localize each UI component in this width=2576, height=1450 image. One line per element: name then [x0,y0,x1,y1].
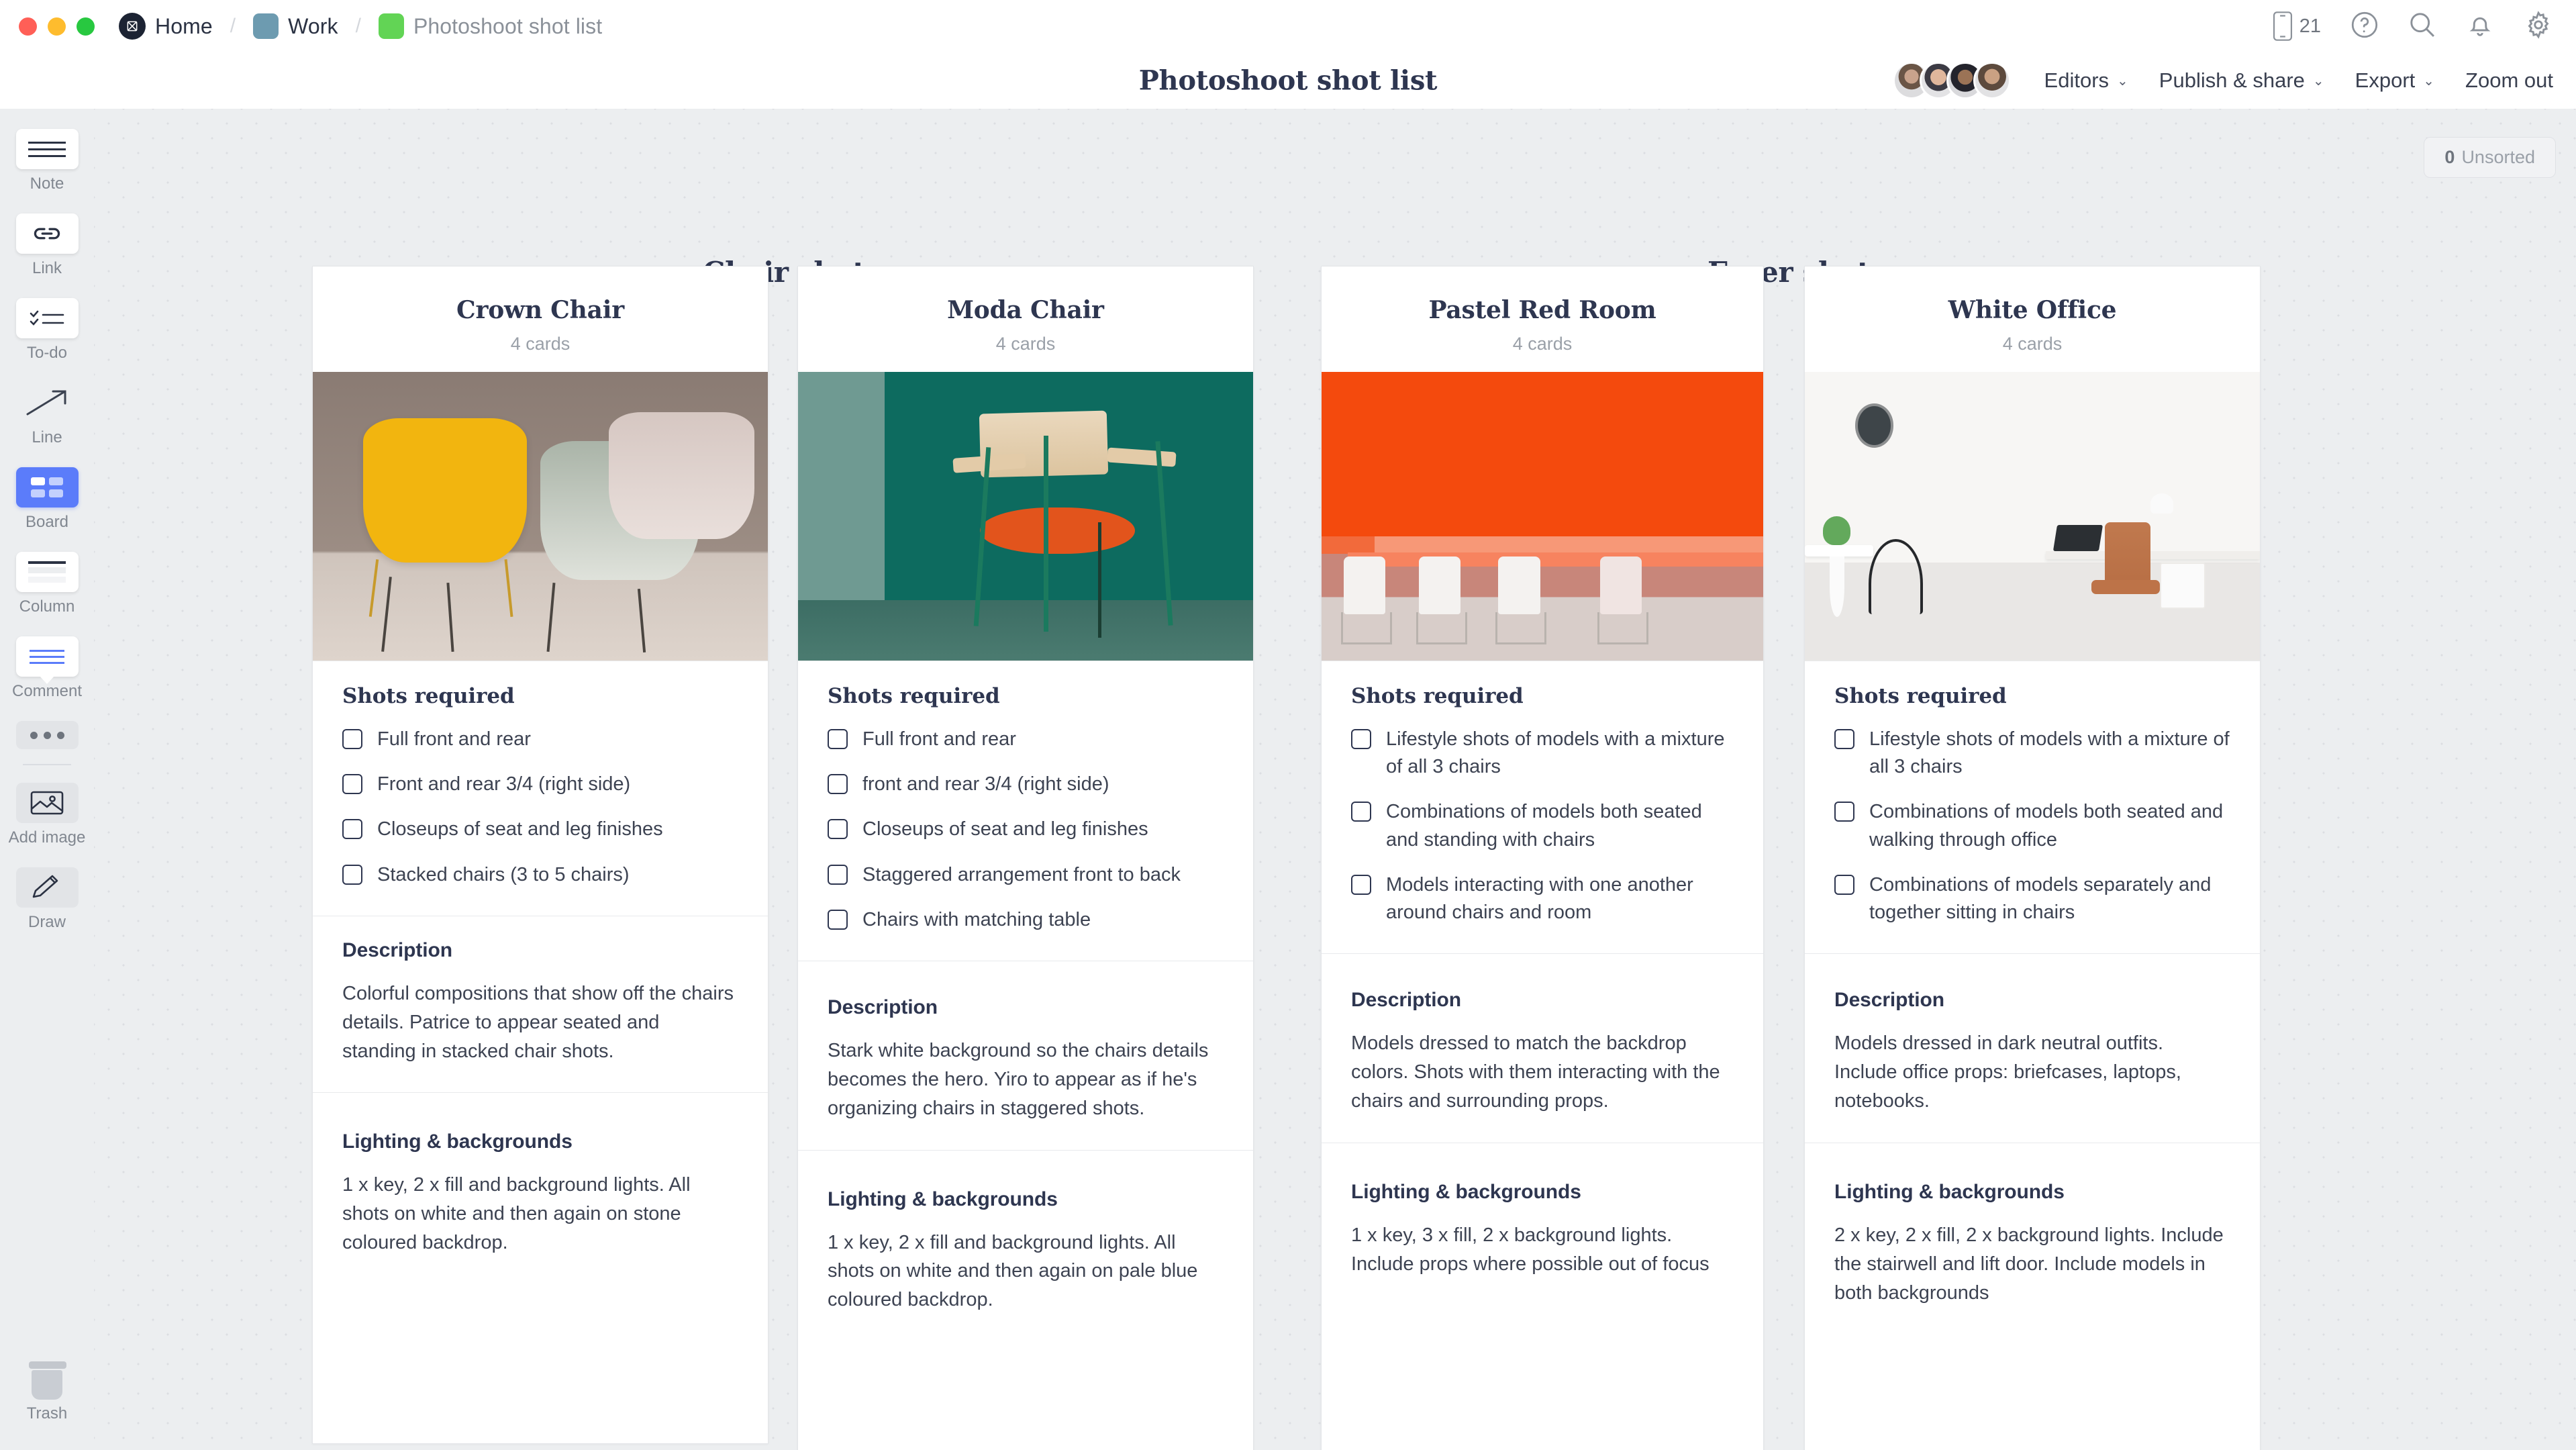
left-tool-sidebar: Note Link To-do Line [0,109,94,1450]
lighting-text: 1 x key, 3 x fill, 2 x background lights… [1351,1221,1734,1279]
checklist-label: Closeups of seat and leg finishes [862,816,1148,843]
sidebar-more-tools-button[interactable] [0,721,94,749]
sidebar-tool-line[interactable]: Line [0,383,94,447]
blue-swatch-icon [253,13,279,39]
checklist-label: Stacked chairs (3 to 5 chairs) [377,861,630,889]
app-toolbar: Photoshoot shot list Editors ⌄ Publish &… [0,52,2576,109]
card-shots-block: Shots required Full front and rear Front… [313,661,768,916]
checklist-item[interactable]: Combinations of models both seated and w… [1834,798,2230,853]
checklist-item[interactable]: Combinations of models separately and to… [1834,871,2230,926]
lighting-text: 1 x key, 2 x fill and background lights.… [828,1228,1224,1315]
sidebar-tool-add-image[interactable]: Add image [0,783,94,847]
chevron-down-icon: ⌄ [2423,72,2434,89]
checkbox-icon[interactable] [1834,729,1854,749]
checklist-label: front and rear 3/4 (right side) [862,771,1109,798]
card-shots-block: Shots required Full front and rear front… [798,661,1253,961]
mobile-icon [2273,11,2293,41]
sidebar-tool-board[interactable]: Board [0,467,94,532]
editors-dropdown[interactable]: Editors ⌄ [2044,68,2128,93]
lighting-text: 1 x key, 2 x fill and background lights.… [342,1171,738,1257]
card-header: White Office 4 cards [1805,267,2260,372]
breadcrumb-separator: / [356,15,361,38]
description-text: Models dressed to match the backdrop col… [1351,1029,1734,1116]
add-image-icon [16,783,79,823]
card-title: Crown Chair [336,296,745,324]
titlebar-actions: 21 [2273,10,2553,43]
card-subtitle: 4 cards [336,334,745,354]
checklist-item[interactable]: Staggered arrangement front to back [828,861,1224,889]
shots-heading: Shots required [342,684,738,708]
link-icon [16,213,79,254]
draw-pencil-icon [16,867,79,908]
breadcrumb: Home / Work / Photoshoot shot list [119,13,602,40]
checklist-item[interactable]: Full front and rear [342,726,738,753]
editors-label: Editors [2044,68,2109,93]
checkbox-icon[interactable] [1834,802,1854,822]
notifications-icon[interactable] [2466,11,2494,42]
sidebar-tool-note[interactable]: Note [0,129,94,193]
card-lighting-block: Lighting & backgrounds 1 x key, 2 x fill… [313,1092,768,1284]
shots-heading: Shots required [1351,684,1734,708]
sidebar-tool-label: Draw [28,913,66,932]
sidebar-tool-label: Link [32,259,62,278]
checkbox-icon[interactable] [342,729,362,749]
checklist-label: Closeups of seat and leg finishes [377,816,663,843]
checklist-label: Staggered arrangement front to back [862,861,1181,889]
lighting-heading: Lighting & backgrounds [828,1188,1224,1211]
card-header: Moda Chair 4 cards [798,267,1253,372]
checklist-label: Combinations of models separately and to… [1869,871,2230,926]
checkbox-icon[interactable] [1351,875,1371,895]
sidebar-tool-link[interactable]: Link [0,213,94,278]
minimize-window-button[interactable] [48,17,66,36]
unsorted-count: 0 [2444,147,2455,168]
description-text: Stark white background so the chairs det… [828,1036,1224,1123]
lighting-heading: Lighting & backgrounds [1834,1181,2230,1204]
sidebar-tool-comment[interactable]: Comment [0,636,94,701]
card-lighting-block: Lighting & backgrounds 1 x key, 3 x fill… [1322,1143,1763,1306]
milanote-logo-icon [119,13,146,40]
checklist-label: Front and rear 3/4 (right side) [377,771,630,798]
card-title: Pastel Red Room [1344,296,1740,324]
card-lighting-block: Lighting & backgrounds 1 x key, 2 x fill… [798,1150,1253,1342]
help-icon[interactable] [2350,11,2379,42]
sidebar-tool-label: Board [26,513,68,532]
shots-heading: Shots required [1834,684,2230,708]
note-icon [16,129,79,169]
lighting-heading: Lighting & backgrounds [342,1130,738,1153]
description-heading: Description [828,996,1224,1019]
sidebar-tool-column[interactable]: Column [0,552,94,616]
breadcrumb-item-home[interactable]: Home [119,13,213,40]
window-controls [19,17,95,36]
card-title: Moda Chair [821,296,1230,324]
card-image-moda-chair[interactable] [798,372,1253,661]
export-dropdown[interactable]: Export ⌄ [2355,68,2434,93]
checklist-item[interactable]: Stacked chairs (3 to 5 chairs) [342,861,738,889]
zoom-out-button[interactable]: Zoom out [2465,68,2553,93]
sidebar-tool-label: Line [32,428,62,447]
chevron-down-icon: ⌄ [2313,72,2324,89]
todo-icon [16,298,79,338]
checklist-item[interactable]: front and rear 3/4 (right side) [828,771,1224,798]
card-subtitle: 4 cards [1828,334,2237,354]
board-canvas[interactable]: 0 Unsorted Chair shots Foyer shots Crown… [94,109,2576,1450]
search-icon[interactable] [2408,11,2436,42]
mobile-count: 21 [2299,15,2321,38]
breadcrumb-label-home: Home [155,14,213,39]
card-header: Crown Chair 4 cards [313,267,768,372]
more-dots-icon [16,721,79,749]
checklist-label: Combinations of models both seated and s… [1386,798,1734,853]
sidebar-tool-todo[interactable]: To-do [0,298,94,362]
card-description-block: Description Models dressed to match the … [1322,953,1763,1143]
checklist-item[interactable]: Models interacting with one another arou… [1351,871,1734,926]
checkbox-icon[interactable] [342,819,362,839]
card-lighting-block: Lighting & backgrounds 2 x key, 2 x fill… [1805,1143,2260,1335]
breadcrumb-label-work: Work [288,14,338,39]
checklist-label: Combinations of models both seated and w… [1869,798,2230,853]
card-shots-block: Shots required Lifestyle shots of models… [1322,661,1763,953]
card-image-pastel-red-room[interactable] [1322,372,1763,661]
description-text: Models dressed in dark neutral outfits. … [1834,1029,2230,1116]
breadcrumb-item-work[interactable]: Work [253,13,338,39]
card-image-white-office[interactable] [1805,372,2260,661]
checklist-item[interactable]: Front and rear 3/4 (right side) [342,771,738,798]
maximize-window-button[interactable] [77,17,95,36]
card-title: White Office [1828,296,2237,324]
breadcrumb-separator: / [230,15,236,38]
checkbox-icon[interactable] [342,865,362,885]
card-header: Pastel Red Room 4 cards [1322,267,1763,372]
breadcrumb-item-current[interactable]: Photoshoot shot list [379,13,602,39]
checklist-item[interactable]: Full front and rear [828,726,1224,753]
description-text: Colorful compositions that show off the … [342,979,738,1066]
sidebar-divider [23,764,71,765]
comment-icon [16,636,79,677]
board-card-pastel-red-room[interactable]: Pastel Red Room 4 cards Shots required L… [1321,266,1764,1450]
sidebar-tool-label: To-do [27,344,67,362]
unsorted-label: Unsorted [2461,147,2535,168]
editor-avatars[interactable] [1893,62,2011,99]
publish-share-label: Publish & share [2159,68,2305,93]
publish-share-dropdown[interactable]: Publish & share ⌄ [2159,68,2324,93]
unsorted-chip[interactable]: 0 Unsorted [2424,137,2556,178]
sidebar-tool-label: Note [30,175,64,193]
card-description-block: Description Models dressed in dark neutr… [1805,953,2260,1143]
settings-icon[interactable] [2524,10,2553,43]
sidebar-tool-label: Add image [9,828,86,847]
checkbox-icon[interactable] [828,865,848,885]
checkbox-icon[interactable] [828,819,848,839]
chevron-down-icon: ⌄ [2117,72,2128,89]
card-subtitle: 4 cards [821,334,1230,354]
card-subtitle: 4 cards [1344,334,1740,354]
sidebar-tool-label: Comment [12,682,82,701]
line-arrow-icon [16,383,79,423]
checkbox-icon[interactable] [828,774,848,794]
checkbox-icon[interactable] [1351,802,1371,822]
description-heading: Description [1351,989,1734,1012]
checkbox-icon[interactable] [342,774,362,794]
zoom-out-label: Zoom out [2465,68,2553,93]
checkbox-icon[interactable] [828,910,848,930]
checklist-label: Lifestyle shots of models with a mixture… [1386,726,1734,781]
checklist-item[interactable]: Lifestyle shots of models with a mixture… [1351,726,1734,781]
checklist-item[interactable]: Chairs with matching table [828,906,1224,934]
sidebar-tool-draw[interactable]: Draw [0,867,94,932]
checklist-label: Lifestyle shots of models with a mixture… [1869,726,2230,781]
checklist-label: Models interacting with one another arou… [1386,871,1734,926]
breadcrumb-label-current: Photoshoot shot list [413,14,602,39]
checkbox-icon[interactable] [1351,729,1371,749]
checklist-item[interactable]: Closeups of seat and leg finishes [828,816,1224,843]
description-heading: Description [342,939,738,962]
sidebar-tool-label: Column [19,597,75,616]
column-icon [16,552,79,592]
lighting-heading: Lighting & backgrounds [1351,1181,1734,1204]
board-card-moda-chair[interactable]: Moda Chair 4 cards Shots required Full f… [797,266,1254,1450]
checklist-item[interactable]: Lifestyle shots of models with a mixture… [1834,726,2230,781]
export-label: Export [2355,68,2416,93]
avatar[interactable] [1973,62,2011,99]
shots-heading: Shots required [828,684,1224,708]
green-swatch-icon [379,13,404,39]
checklist-item[interactable]: Combinations of models both seated and s… [1351,798,1734,853]
trash-icon [29,1361,65,1399]
checkbox-icon[interactable] [1834,875,1854,895]
checklist-label: Chairs with matching table [862,906,1091,934]
card-image-yellow-green-pink-chairs[interactable] [313,372,768,661]
lighting-text: 2 x key, 2 x fill, 2 x background lights… [1834,1221,2230,1308]
board-card-white-office[interactable]: White Office 4 cards Shots required Lif [1804,266,2261,1450]
board-icon [16,467,79,507]
close-window-button[interactable] [19,17,37,36]
card-description-block: Description Colorful compositions that s… [313,916,768,1093]
mobile-button[interactable]: 21 [2273,11,2321,41]
sidebar-trash[interactable]: Trash [27,1361,67,1423]
window-title-bar: Home / Work / Photoshoot shot list 21 [0,0,2576,52]
card-description-block: Description Stark white background so th… [798,961,1253,1150]
card-shots-block: Shots required Lifestyle shots of models… [1805,661,2260,953]
board-card-crown-chair[interactable]: Crown Chair 4 cards Shots required Full … [312,266,769,1444]
description-heading: Description [1834,989,2230,1012]
checklist-label: Full front and rear [377,726,531,753]
checkbox-icon[interactable] [828,729,848,749]
checklist-label: Full front and rear [862,726,1016,753]
checklist-item[interactable]: Closeups of seat and leg finishes [342,816,738,843]
sidebar-trash-label: Trash [27,1404,67,1423]
toolbar-actions: Editors ⌄ Publish & share ⌄ Export ⌄ Zoo… [1893,62,2553,99]
